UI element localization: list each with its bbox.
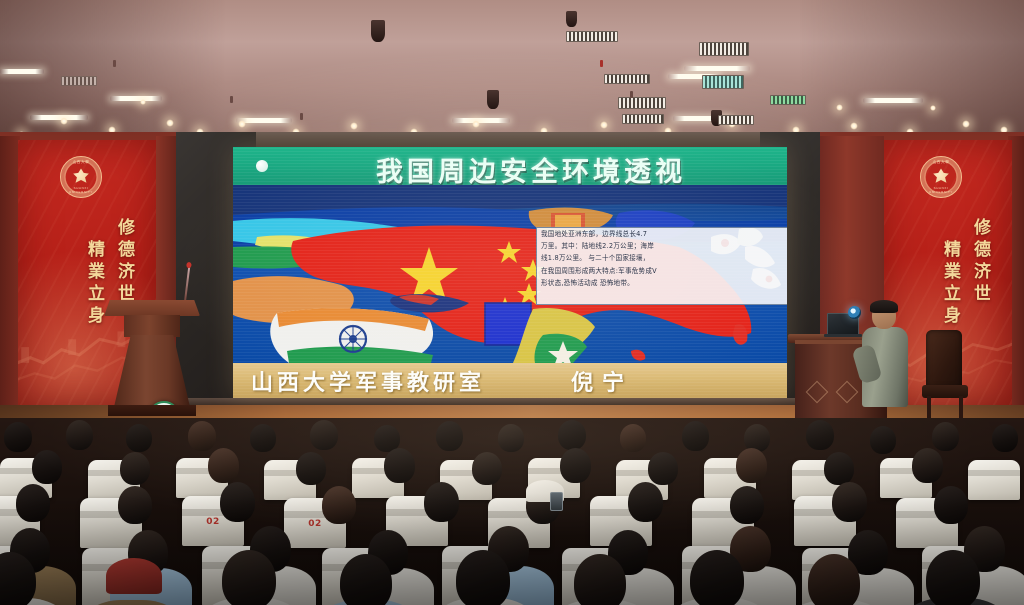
ceiling-speaker-icon [487, 90, 499, 109]
audience-head [472, 452, 502, 485]
podium-top [104, 300, 200, 316]
air-vent [718, 115, 754, 125]
audience-head [456, 550, 510, 605]
audience-head [932, 422, 959, 451]
audience-head [628, 482, 663, 522]
audience-head [824, 452, 854, 485]
chair-back [926, 330, 962, 388]
air-vent [604, 74, 650, 84]
slide-body-line: 在我国周围形成两大特点:军事危势成V [537, 265, 787, 277]
seal-top-text: 山西大學 [921, 160, 961, 165]
ceiling-speaker-icon [371, 20, 385, 42]
audience-head [934, 486, 968, 524]
air-vent [618, 97, 666, 109]
audience-head [832, 482, 867, 522]
wall-left-edge [0, 136, 20, 421]
audience-head [808, 554, 860, 605]
sprinkler-icon [300, 113, 303, 120]
audience-head [690, 550, 744, 605]
strip-light [30, 115, 88, 120]
desk-lamp-icon [848, 306, 861, 319]
audience-head [208, 448, 239, 483]
audience-head [560, 448, 591, 483]
slide-title-text: 我国周边安全环境透视 [281, 150, 781, 189]
audience-head [4, 422, 32, 452]
slide-body-line: 万里。其中：陆地线2.2万公里；海岸 [537, 240, 787, 252]
audience-head [574, 554, 626, 605]
audience-area: 02 02 02 [0, 418, 1024, 605]
strip-light [452, 118, 510, 123]
sprinkler-icon [230, 96, 233, 103]
strip-light [110, 96, 162, 101]
audience-head [992, 424, 1018, 452]
downlight [60, 117, 68, 125]
slide-body-line: 线1.8万公里。 与二十个国家接壤， [537, 252, 787, 264]
audience-head [806, 420, 834, 450]
slide-footer-org: 山西大学军事教研室 [251, 365, 485, 397]
screen-header-trim [176, 132, 820, 148]
audience-head [912, 448, 943, 483]
downlight [836, 104, 843, 111]
audience-head [16, 484, 50, 522]
podium [104, 300, 200, 418]
auditorium-seat [968, 460, 1020, 500]
strip-light [684, 66, 750, 71]
downlight [472, 120, 480, 128]
podium-base [108, 405, 196, 416]
seal-top-text: 山西大學 [61, 160, 101, 165]
downlight [166, 119, 174, 127]
slide-footer: 山西大学军事教研室 倪宁 [233, 363, 787, 398]
downlight [962, 120, 970, 128]
audience-head [220, 482, 255, 522]
bullet-dot-icon [256, 160, 268, 172]
banner-motto-line2: 精業立身 [84, 240, 104, 328]
strip-light [0, 69, 44, 74]
ceiling-speaker-icon [566, 11, 577, 27]
downlight [850, 122, 858, 130]
air-vent [699, 42, 749, 56]
audience-head [682, 421, 709, 451]
ceiling-shading [0, 0, 1024, 140]
banner-motto-line1: 修德济世 [114, 218, 134, 306]
audience-head [118, 486, 152, 524]
laptop-base [824, 334, 862, 337]
audience-head [296, 452, 326, 485]
slide-body-line: 我国地处亚洲东部，边界线总长4.7 [537, 228, 787, 240]
seat-number: 02 [308, 519, 322, 529]
stage-chair [922, 330, 968, 422]
air-vent [61, 76, 97, 86]
lectern-panel-detail [806, 381, 829, 404]
slide-text-box: 我国地处亚洲东部，边界线总长4.7 万里。其中：陆地线2.2万公里；海岸 线1.… [536, 227, 787, 305]
ceiling [0, 0, 1024, 140]
banner-motto-line1: 修德济世 [970, 218, 990, 306]
air-vent [622, 114, 664, 124]
audience-head [32, 450, 62, 484]
audience-head [384, 448, 415, 483]
audience-head [926, 550, 980, 605]
audience-head [558, 420, 586, 450]
audience-head [322, 486, 356, 524]
slide-title-bar: 我国周边安全环境透视 [233, 147, 787, 185]
seal-bottom-text: SHANXI UNIVERSITY [61, 186, 101, 194]
sprinkler-icon [113, 60, 116, 67]
speaker-hair [870, 300, 898, 313]
lectern-panel-detail [836, 381, 859, 404]
downlight [350, 122, 358, 130]
audience-head [436, 421, 463, 451]
audience-head [310, 420, 338, 450]
slide-body-line: 形状态,恐怖活动成 恐怖地带。 [537, 277, 787, 289]
downlight [930, 105, 936, 111]
banner-motto-line2: 精業立身 [940, 240, 960, 328]
audience-head [126, 424, 152, 452]
audience-head [620, 424, 646, 452]
audience-head [498, 424, 524, 452]
air-vent [702, 75, 744, 89]
podium-body [114, 335, 190, 407]
audience-head [340, 554, 392, 605]
audience-cap [106, 558, 162, 594]
strip-light [863, 98, 923, 103]
audience-head [250, 424, 276, 452]
audience-head [222, 550, 276, 605]
sprinkler-icon [600, 60, 603, 67]
university-seal-icon: 山西大學 SHANXI UNIVERSITY [60, 156, 102, 198]
slide-map: 我国地处亚洲东部，边界线总长4.7 万里。其中：陆地线2.2万公里；海岸 线1.… [233, 185, 787, 363]
university-seal-icon: 山西大學 SHANXI UNIVERSITY [920, 156, 962, 198]
speaker-person [862, 302, 908, 406]
audience-head [730, 486, 764, 524]
audience-head [120, 452, 150, 485]
sprinkler-icon [630, 91, 633, 98]
downlight [140, 99, 146, 105]
audience-head [736, 448, 767, 483]
seal-emblem-icon [933, 169, 950, 186]
lecture-hall-photo: 山西大學 SHANXI UNIVERSITY 修德济世 精業立身 山西大學 SH… [0, 0, 1024, 605]
audience-head [424, 482, 459, 522]
podium-neck [124, 315, 180, 337]
projection-screen: 我国周边安全环境透视 [233, 147, 787, 398]
downlight [600, 121, 608, 129]
audience-head [870, 426, 896, 454]
seal-emblem-icon [73, 169, 90, 186]
air-vent [770, 95, 806, 105]
audience-head [66, 420, 93, 450]
audience-head [188, 421, 216, 451]
downlight [238, 120, 246, 128]
seat-number: 02 [206, 517, 220, 527]
slide-footer-presenter: 倪宁 [571, 365, 633, 397]
smartphone-icon [550, 492, 563, 511]
seal-bottom-text: SHANXI UNIVERSITY [921, 186, 961, 194]
air-vent [566, 31, 618, 42]
audience-head [648, 452, 678, 485]
